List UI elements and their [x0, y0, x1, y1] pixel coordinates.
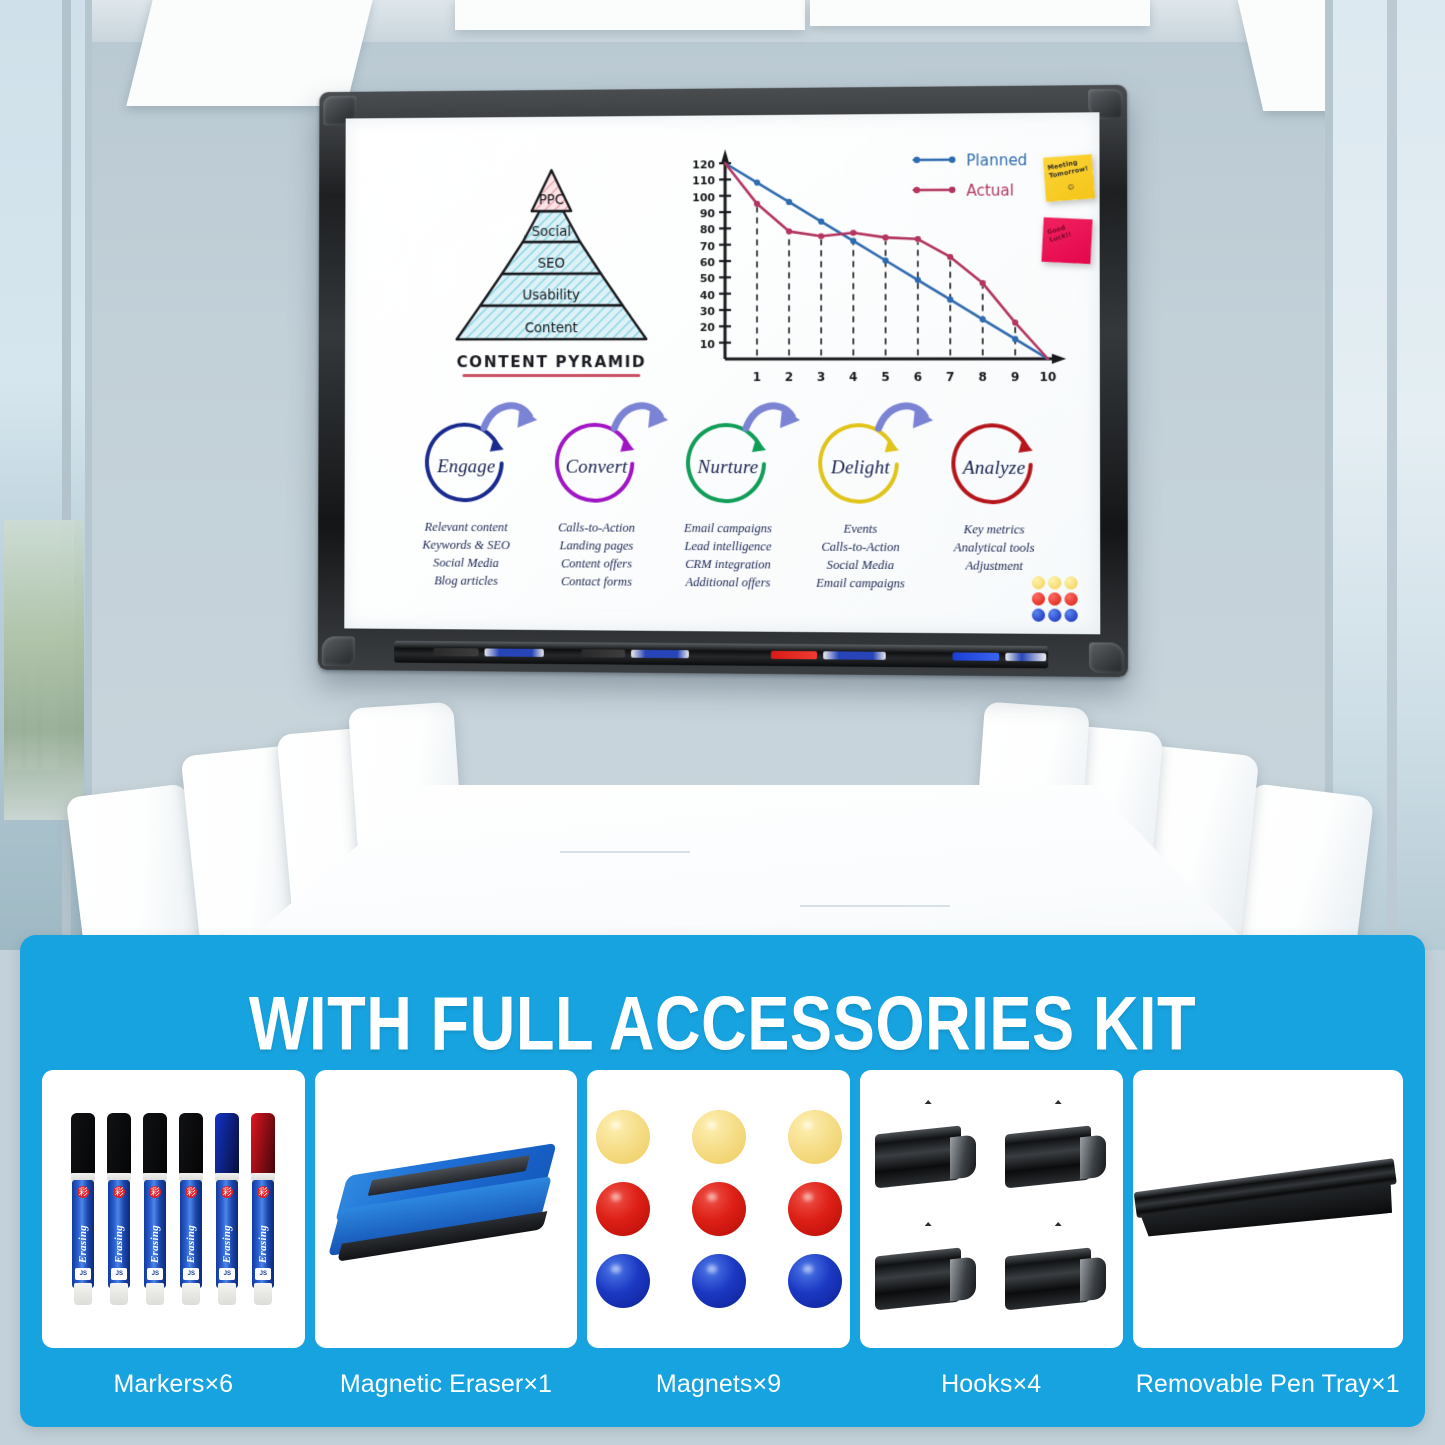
- marker-pen[interactable]: ErasingJS: [178, 1113, 204, 1305]
- marker-cap: [179, 1113, 203, 1175]
- hook-lip: [950, 1135, 976, 1180]
- magnet[interactable]: [788, 1254, 842, 1308]
- funnel-item: Social Media: [422, 554, 510, 572]
- marker-tip: [146, 1283, 164, 1305]
- magnet[interactable]: [596, 1110, 650, 1164]
- tray-marker[interactable]: [1005, 653, 1046, 661]
- funnel-item: Additional offers: [684, 574, 772, 592]
- magnet[interactable]: [596, 1182, 650, 1236]
- marker-logo-icon: [113, 1186, 125, 1198]
- marker-sub-brand: JS: [219, 1268, 235, 1280]
- board-magnet[interactable]: [1064, 576, 1077, 589]
- board-pen-tray[interactable]: [394, 641, 1048, 669]
- svg-text:60: 60: [700, 256, 716, 269]
- marker-body: ErasingJS: [144, 1180, 166, 1288]
- funnel-ring: Analyze: [945, 420, 1043, 517]
- svg-text:2: 2: [785, 370, 793, 384]
- board-magnet[interactable]: [1048, 609, 1061, 622]
- funnel-item: Landing pages: [558, 537, 635, 555]
- ceiling-light-panel: [810, 0, 1150, 26]
- caption-magnets: Magnets×9: [587, 1370, 850, 1399]
- marker-sub-brand: JS: [147, 1268, 163, 1280]
- svg-text:20: 20: [700, 321, 716, 334]
- funnel-item: Lead intelligence: [684, 538, 772, 556]
- pyramid-caption: CONTENT PYRAMID: [443, 353, 660, 371]
- hook-body: [875, 1125, 961, 1188]
- svg-text:Planned: Planned: [966, 151, 1027, 170]
- funnel-item: Keywords & SEO: [422, 537, 510, 555]
- tray-marker[interactable]: [485, 648, 544, 656]
- marker-cap: [215, 1113, 239, 1175]
- marker-brand-text: Erasing: [185, 1219, 197, 1269]
- funnel-item: CRM integration: [684, 556, 772, 574]
- eraser-image: [315, 1070, 578, 1348]
- magnet[interactable]: [692, 1110, 746, 1164]
- hook-lip: [950, 1257, 976, 1302]
- magnets-group: [587, 1070, 850, 1348]
- pyramid-level-content: Content: [525, 321, 578, 336]
- board-magnet[interactable]: [1064, 593, 1077, 606]
- board-magnets-cluster[interactable]: [1032, 576, 1078, 622]
- marker-tip: [218, 1283, 236, 1305]
- funnel-item: Analytical tools: [954, 539, 1035, 557]
- accessory-cards: ErasingJSErasingJSErasingJSErasingJSEras…: [42, 1070, 1403, 1348]
- sticky-note-goodluck-text: Good Luck!!: [1041, 212, 1094, 246]
- marker-pen[interactable]: ErasingJS: [250, 1113, 276, 1305]
- pyramid-level-seo: SEO: [538, 257, 565, 272]
- marker-brand-text: Erasing: [77, 1219, 89, 1269]
- marker-body: ErasingJS: [108, 1180, 130, 1288]
- svg-text:80: 80: [700, 223, 716, 236]
- tray-marker[interactable]: [823, 651, 886, 660]
- hook-lip: [1080, 1135, 1106, 1180]
- marker-cap: [107, 1113, 131, 1175]
- hook-body: [1005, 1125, 1091, 1188]
- pyramid-caption-underline: [462, 374, 640, 377]
- funnel-item: Social Media: [816, 556, 905, 574]
- funnel-stage-label: Analyze: [945, 420, 1043, 517]
- marker-cap: [251, 1113, 275, 1175]
- funnel-item: Key metrics: [954, 521, 1035, 539]
- chart-svg: 102030405060708090100110120 12345678910 …: [685, 139, 1078, 391]
- chair: [1234, 783, 1375, 957]
- whiteboard-frame: PPC Social SEO Usability Content CONTENT…: [318, 85, 1128, 677]
- magnet[interactable]: [692, 1254, 746, 1308]
- marker-logo-icon: [185, 1186, 197, 1198]
- board-magnet[interactable]: [1032, 592, 1045, 605]
- svg-text:10: 10: [1039, 370, 1056, 384]
- board-magnet[interactable]: [1048, 576, 1061, 589]
- marker-pen[interactable]: ErasingJS: [106, 1113, 132, 1305]
- funnel-stage-engage: EngageRelevant contentKeywords & SEOSoci…: [401, 420, 531, 609]
- funnel-stage-items: Key metricsAnalytical toolsAdjustment: [954, 521, 1035, 576]
- pen-tray-image: [1133, 1070, 1404, 1348]
- marker-body: ErasingJS: [180, 1180, 202, 1288]
- funnel-stage-delight: DelightEventsCalls-to-ActionSocial Media…: [794, 420, 927, 612]
- svg-text:9: 9: [1011, 370, 1020, 384]
- svg-text:40: 40: [700, 289, 716, 302]
- ceiling-light-panel: [455, 0, 805, 30]
- hook-body: [875, 1247, 961, 1310]
- marker-logo-icon: [221, 1186, 233, 1198]
- funnel-stage-convert: ConvertCalls-to-ActionLanding pagesConte…: [531, 420, 662, 610]
- magnetic-hook[interactable]: [1002, 1216, 1110, 1324]
- marker-brand-text: Erasing: [113, 1219, 125, 1269]
- svg-text:3: 3: [817, 370, 825, 384]
- funnel-item: Content offers: [558, 555, 635, 573]
- markers-group: ErasingJSErasingJSErasingJSErasingJSEras…: [42, 1070, 305, 1348]
- frame-corner-cap: [322, 636, 355, 666]
- funnel-ring: Delight: [812, 420, 909, 517]
- marker-body: ErasingJS: [252, 1180, 274, 1288]
- magnetic-hook[interactable]: [872, 1094, 980, 1202]
- card-markers[interactable]: ErasingJSErasingJSErasingJSErasingJSEras…: [42, 1070, 305, 1348]
- funnel-ring: Engage: [419, 420, 514, 516]
- magnet[interactable]: [596, 1254, 650, 1308]
- pyramid-level-usability: Usability: [523, 288, 581, 303]
- magnet[interactable]: [788, 1110, 842, 1164]
- card-magnetic-eraser[interactable]: [315, 1070, 578, 1348]
- magnetic-hook[interactable]: [872, 1216, 980, 1324]
- funnel-stage-items: Email campaignsLead intelligenceCRM inte…: [684, 520, 772, 592]
- funnel-item: Events: [816, 521, 905, 539]
- magnetic-eraser: [322, 1143, 570, 1275]
- svg-text:100: 100: [692, 191, 715, 204]
- svg-text:Actual: Actual: [966, 181, 1014, 200]
- tray-marker[interactable]: [631, 650, 689, 659]
- board-magnet[interactable]: [1032, 576, 1045, 589]
- marker-body: ErasingJS: [72, 1180, 94, 1288]
- funnel-stage-items: EventsCalls-to-ActionSocial MediaEmail c…: [816, 521, 905, 593]
- svg-text:120: 120: [692, 158, 715, 171]
- marker-tip: [254, 1283, 272, 1305]
- pyramid-level-social: Social: [532, 225, 571, 240]
- city-view: [4, 520, 74, 770]
- card-pen-tray[interactable]: [1133, 1070, 1404, 1348]
- removable-pen-tray: [1133, 1152, 1403, 1266]
- tray-marker[interactable]: [433, 648, 478, 656]
- banner-title: WITH FULL ACCESSORIES KIT: [6, 935, 1439, 1068]
- board-magnet[interactable]: [1064, 609, 1077, 622]
- marker-sub-brand: JS: [255, 1268, 271, 1280]
- svg-text:1: 1: [753, 370, 761, 384]
- marker-pen[interactable]: ErasingJS: [142, 1113, 168, 1305]
- board-magnet[interactable]: [1048, 592, 1061, 605]
- svg-text:30: 30: [700, 305, 716, 318]
- funnel-item: Blog articles: [422, 572, 510, 590]
- svg-text:5: 5: [881, 370, 889, 384]
- magnet[interactable]: [692, 1182, 746, 1236]
- caption-eraser: Magnetic Eraser×1: [315, 1370, 578, 1399]
- tray-marker[interactable]: [771, 651, 817, 659]
- whiteboard-surface[interactable]: PPC Social SEO Usability Content CONTENT…: [344, 112, 1100, 634]
- marker-logo-icon: [77, 1186, 89, 1198]
- hook-lip: [1080, 1257, 1106, 1302]
- funnel-item: Calls-to-Action: [558, 519, 635, 537]
- svg-text:7: 7: [946, 370, 954, 384]
- funnel-stage-items: Calls-to-ActionLanding pagesContent offe…: [558, 519, 635, 591]
- marker-cap: [143, 1113, 167, 1175]
- marker-tip: [182, 1283, 200, 1305]
- funnel-item: Email campaigns: [816, 574, 905, 593]
- marker-sub-brand: JS: [75, 1268, 91, 1280]
- content-pyramid-diagram: PPC Social SEO Usability Content CONTENT…: [443, 164, 661, 393]
- funnel-item: Adjustment: [954, 557, 1035, 576]
- magnetic-hook[interactable]: [1002, 1094, 1110, 1202]
- caption-hooks: Hooks×4: [860, 1370, 1123, 1399]
- frame-corner-cap: [1089, 642, 1124, 673]
- marker-brand-text: Erasing: [221, 1219, 233, 1269]
- marker-body: ErasingJS: [216, 1180, 238, 1288]
- burndown-chart: 102030405060708090100110120 12345678910 …: [685, 139, 1078, 391]
- svg-text:50: 50: [700, 272, 716, 285]
- funnel-stage-items: Relevant contentKeywords & SEOSocial Med…: [422, 519, 510, 591]
- pyramid-svg: PPC Social SEO Usability Content: [443, 164, 661, 349]
- funnel-ring: Convert: [549, 420, 644, 516]
- marker-logo-icon: [149, 1186, 161, 1198]
- board-magnet[interactable]: [1032, 608, 1045, 621]
- marker-cap: [71, 1113, 95, 1175]
- hook-body: [1005, 1247, 1091, 1310]
- sticky-note-meeting[interactable]: Meeting Tomorrow! ☺: [1043, 154, 1095, 202]
- marker-tip: [110, 1283, 128, 1305]
- svg-text:90: 90: [700, 207, 716, 220]
- svg-text:8: 8: [979, 370, 987, 384]
- magnet[interactable]: [788, 1182, 842, 1236]
- caption-markers: Markers×6: [42, 1370, 305, 1399]
- funnel-ring: Nurture: [680, 420, 776, 516]
- marker-pen[interactable]: ErasingJS: [70, 1113, 96, 1305]
- svg-text:70: 70: [700, 240, 716, 253]
- funnel-item: Relevant content: [422, 519, 510, 537]
- marker-sub-brand: JS: [111, 1268, 127, 1280]
- window-mullion: [1387, 0, 1397, 950]
- marketing-funnel-diagram: EngageRelevant contentKeywords & SEOSoci…: [401, 420, 1061, 613]
- sticky-note-goodluck[interactable]: Good Luck!!: [1041, 217, 1092, 264]
- svg-text:10: 10: [700, 338, 716, 351]
- svg-text:6: 6: [914, 370, 922, 384]
- tray-marker[interactable]: [953, 652, 1000, 660]
- pyramid-level-ppc: PPC: [539, 193, 564, 208]
- marker-brand-text: Erasing: [149, 1219, 161, 1269]
- card-hooks[interactable]: [860, 1070, 1123, 1348]
- funnel-item: Contact forms: [558, 573, 635, 591]
- card-magnets[interactable]: [587, 1070, 850, 1348]
- tray-marker[interactable]: [581, 649, 625, 657]
- marker-logo-icon: [257, 1186, 269, 1198]
- svg-text:110: 110: [692, 175, 715, 188]
- hooks-group: [860, 1070, 1123, 1348]
- funnel-item: Email campaigns: [684, 520, 772, 538]
- accessory-captions: Markers×6 Magnetic Eraser×1 Magnets×9 Ho…: [42, 1355, 1403, 1413]
- caption-pen-tray: Removable Pen Tray×1: [1133, 1370, 1404, 1399]
- marker-tip: [74, 1283, 92, 1305]
- marker-sub-brand: JS: [183, 1268, 199, 1280]
- svg-text:4: 4: [849, 370, 857, 384]
- accessories-banner: WITH FULL ACCESSORIES KIT ErasingJSErasi…: [20, 935, 1425, 1427]
- funnel-stage-nurture: NurtureEmail campaignsLead intelligenceC…: [662, 420, 794, 611]
- funnel-item: Calls-to-Action: [816, 538, 905, 556]
- marker-brand-text: Erasing: [257, 1219, 269, 1269]
- whiteboard[interactable]: PPC Social SEO Usability Content CONTENT…: [313, 88, 1123, 673]
- marker-pen[interactable]: ErasingJS: [214, 1113, 240, 1305]
